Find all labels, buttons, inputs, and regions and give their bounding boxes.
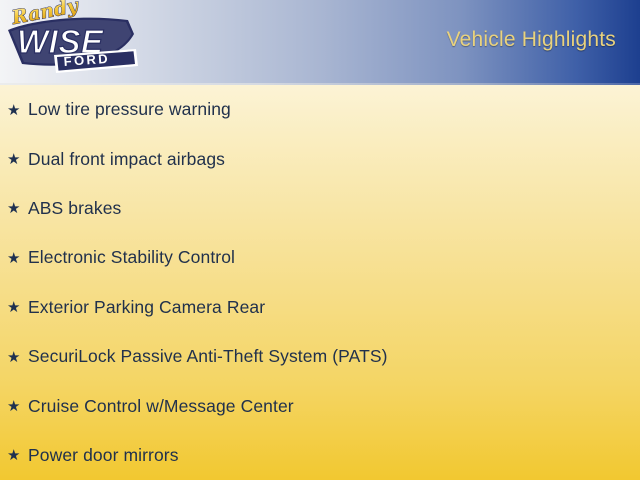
list-item: ★ Cruise Control w/Message Center <box>0 381 640 430</box>
list-item-label: SecuriLock Passive Anti-Theft System (PA… <box>28 346 388 367</box>
list-item: ★ ABS brakes <box>0 184 640 233</box>
star-icon: ★ <box>7 299 28 315</box>
star-icon: ★ <box>7 398 28 414</box>
randy-wise-ford-logo: WISE FORD Randy <box>2 0 142 83</box>
star-icon: ★ <box>7 250 28 266</box>
list-item-label: Cruise Control w/Message Center <box>28 396 294 417</box>
star-icon: ★ <box>7 200 28 216</box>
list-item-label: ABS brakes <box>28 198 121 219</box>
list-item: ★ Exterior Parking Camera Rear <box>0 283 640 332</box>
vehicle-highlights-slide: WISE FORD Randy Vehicle Highlights ★ Low… <box>0 0 640 480</box>
list-item: ★ Electronic Stability Control <box>0 233 640 282</box>
list-item-label: Dual front impact airbags <box>28 149 225 170</box>
page-title: Vehicle Highlights <box>447 28 616 52</box>
list-item: ★ Dual front impact airbags <box>0 134 640 183</box>
star-icon: ★ <box>7 102 28 118</box>
list-item-label: Low tire pressure warning <box>28 99 231 120</box>
list-item-label: Exterior Parking Camera Rear <box>28 297 265 318</box>
vehicle-highlights-list: ★ Low tire pressure warning ★ Dual front… <box>0 85 640 480</box>
star-icon: ★ <box>7 447 28 463</box>
star-icon: ★ <box>7 151 28 167</box>
list-item-label: Power door mirrors <box>28 445 179 466</box>
list-item: ★ SecuriLock Passive Anti-Theft System (… <box>0 332 640 381</box>
list-item: ★ Power door mirrors <box>0 431 640 480</box>
slide-header: WISE FORD Randy Vehicle Highlights <box>0 0 640 83</box>
list-item-label: Electronic Stability Control <box>28 247 235 268</box>
list-item: ★ Low tire pressure warning <box>0 85 640 134</box>
star-icon: ★ <box>7 349 28 365</box>
